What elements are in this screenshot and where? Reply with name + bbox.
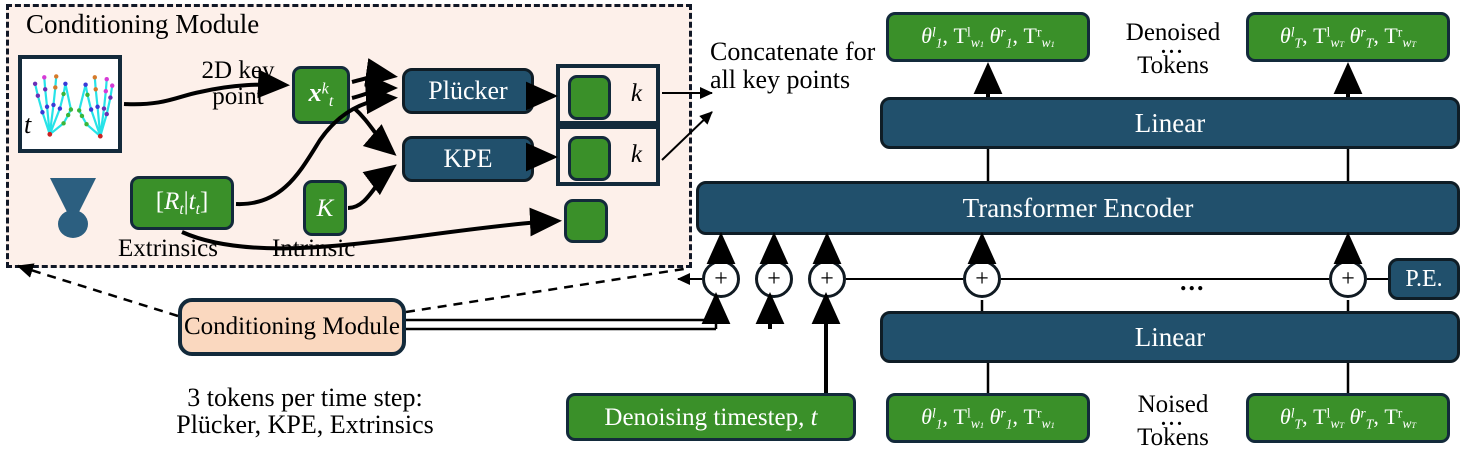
kpe-token-k-frame: k [556,125,660,186]
noised-token-first-label: θl1, Tlw1 θr1, Trw1 [921,406,1055,431]
linear-bottom-block: Linear [880,311,1460,363]
denoised-token-last-label: θlT, TlwT θrT, TrwT [1280,25,1416,50]
label-denoised-tokens: Denoised ... Tokens [1108,20,1238,78]
sum-node-1: + [702,260,740,298]
node-extrinsics: [Rt|tt] [130,176,234,230]
sum-node-2: + [755,260,793,298]
node-xtk-label: xkt [309,80,334,110]
tokens-per-timestep-note: 3 tokens per time step: Plücker, KPE, Ex… [120,384,490,439]
plucker-token-box [568,75,611,120]
label-2d-keypoint: 2D key point [190,58,286,111]
label-noised-tokens: Noised ... Tokens [1108,392,1238,450]
positional-encoding-box: P.E. [1388,258,1460,300]
extrinsics-token-box [564,199,608,243]
tokens-note-line2: Plücker, KPE, Extrinsics [120,411,490,438]
noised-token-last-label: θlT, TlwT θrT, TrwT [1280,406,1416,431]
plucker-token-k-frame: k [556,64,660,125]
sum-node-4: + [963,260,1001,298]
kpe-k-label: k [631,141,642,169]
conditioning-module-title: Conditioning Module [26,10,259,38]
block-kpe: KPE [402,136,534,182]
pipeline-ellipsis: ... [1180,268,1206,295]
conditioning-module-ref-box[interactable]: Conditioning Module [178,298,406,356]
noised-token-first: θl1, Tlw1 θr1, Trw1 [886,393,1090,443]
noised-token-last: θlT, TlwT θrT, TrwT [1246,393,1450,443]
camera-frustum-icon [44,172,102,240]
denoising-timestep-box: Denoising timestep, t [566,393,856,441]
label-extrinsics: Extrinsics [118,236,218,262]
keypoint-image [18,55,122,153]
label-concatenate: Concatenate for all key points [710,38,880,94]
sum-node-3: + [808,260,846,298]
node-intrinsic: K [303,180,347,236]
tokens-note-line1: 3 tokens per time step: [120,384,490,411]
label-2d-keypoint-text: 2D key point [202,57,275,110]
noised-ellipsis: ... [1108,409,1238,429]
linear-top-block: Linear [880,97,1460,149]
architecture-diagram: Conditioning Module [0,0,1466,454]
denoised-token-first-label: θl1, Tlw1 θr1, Trw1 [921,25,1055,50]
node-xtk: xkt [292,66,350,124]
block-plucker: Plücker [402,68,534,114]
denoised-ellipsis: ... [1108,37,1238,57]
denoised-token-last: θlT, TlwT θrT, TrwT [1246,12,1450,62]
sum-node-5: + [1329,260,1367,298]
transformer-encoder-block: Transformer Encoder [696,181,1460,235]
node-extrinsics-label: [Rt|tt] [156,189,209,217]
plucker-k-label: k [631,80,642,108]
keypoint-image-timestep-label: t [24,110,31,140]
kpe-token-box [568,136,611,181]
denoising-timestep-label: Denoising timestep, t [604,405,817,430]
label-intrinsic: Intrinsic [272,236,355,262]
denoised-token-first: θl1, Tlw1 θr1, Trw1 [886,12,1090,62]
node-intrinsic-label: K [317,196,334,221]
